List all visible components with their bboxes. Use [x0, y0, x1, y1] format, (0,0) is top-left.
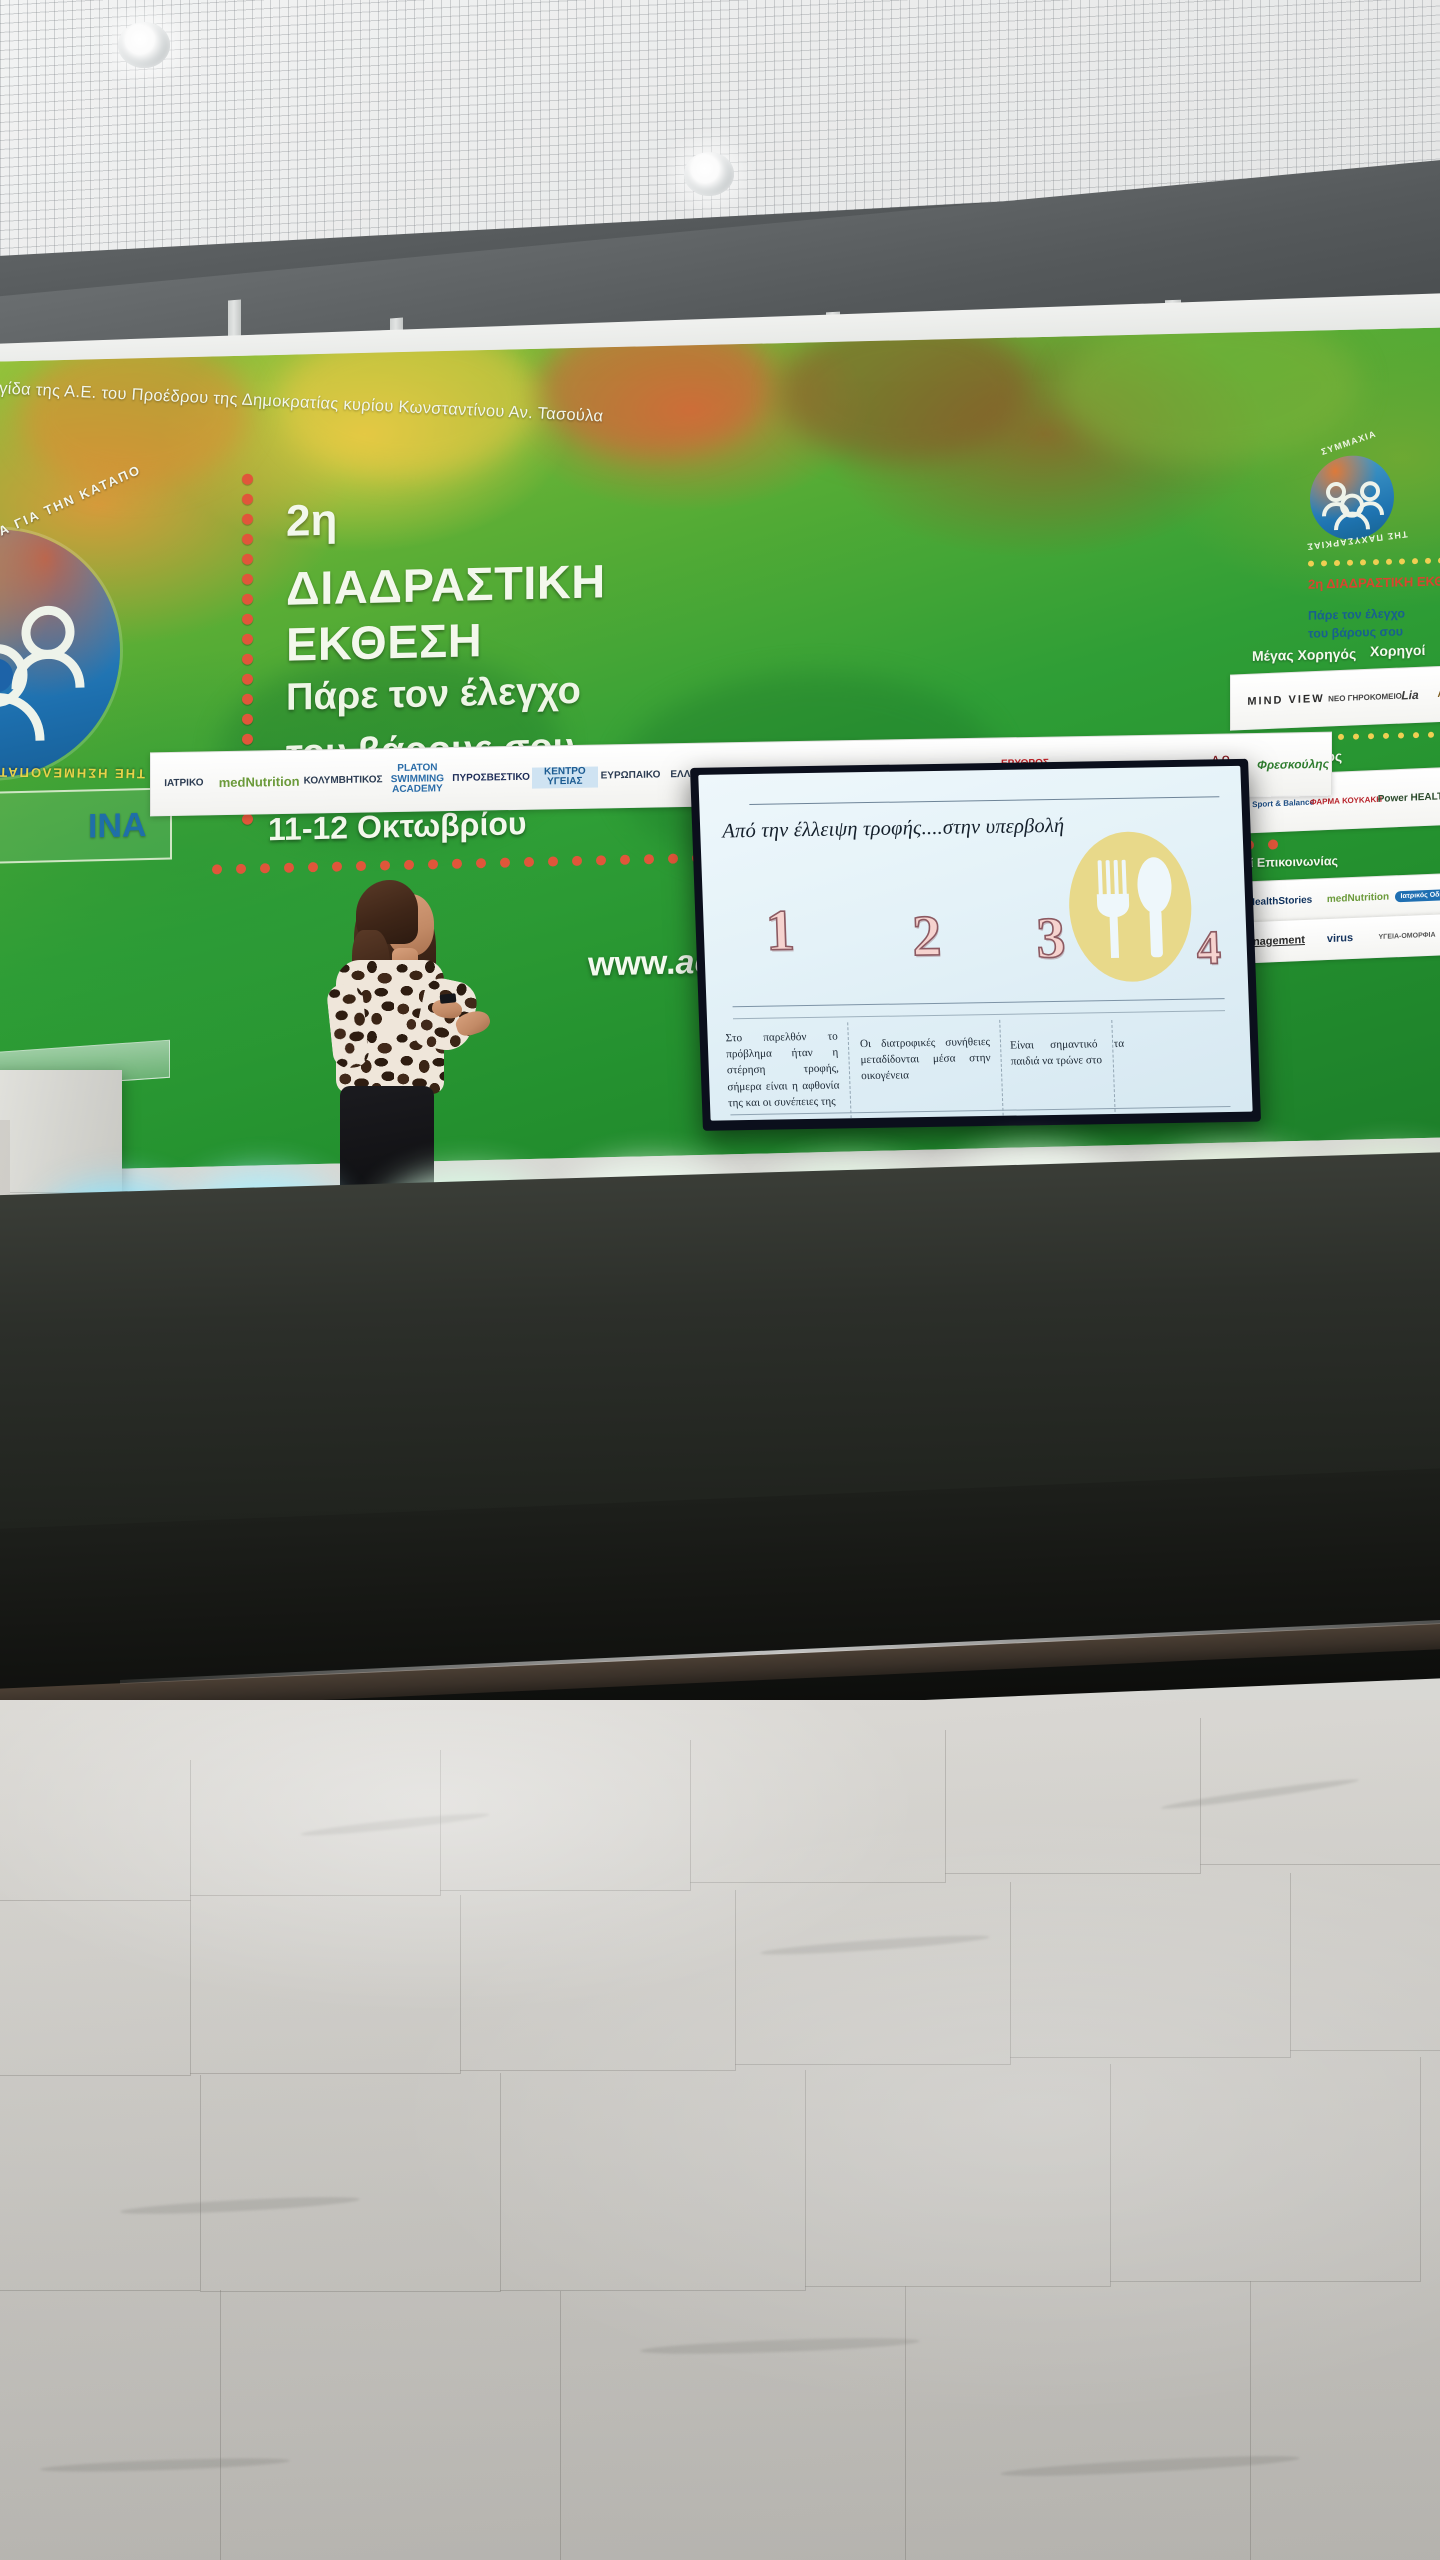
floor-tile — [945, 1718, 1201, 1874]
banner-title-line1: ΔΙΑΔΡΑΣΤΙΚΗ — [286, 553, 606, 616]
stand-sign-text: ΙΝΑ — [88, 806, 147, 846]
floor-tile — [0, 1760, 191, 1901]
partner-logo: PLATON SWIMMING ACADEMY — [385, 763, 451, 796]
floor-tile — [0, 2290, 221, 2560]
sponsor-logo-lia: Lia — [1389, 687, 1431, 703]
sponsor-logo-ab: ΑΒ — [1431, 688, 1440, 699]
ceiling-downlight-icon — [684, 152, 734, 196]
slide-number-3: 3 — [1035, 909, 1066, 967]
banner-edition: 2η — [286, 496, 337, 547]
floor-tile — [905, 2281, 1251, 2560]
slide-divider — [999, 1020, 1003, 1116]
slide-column-3: Είναι σημαντικό τα παιδιά να τρώνε στο — [1010, 1036, 1125, 1070]
banner-title-line2: ΕΚΘΕΣΗ — [286, 612, 482, 672]
floor-tile — [735, 1882, 1011, 2065]
partner-logo: ΠΥΡΟΣΒΕΣΤΙΚΟ — [450, 772, 532, 784]
floor-tile — [190, 1895, 461, 2074]
slide-column-1: Στο παρελθόν το πρόβλημα ήταν η στέρηση … — [725, 1029, 840, 1112]
slide-column-2: Οι διατροφικές συνήθειες μεταδίδονται μέ… — [860, 1034, 992, 1085]
partner-logo: ΚΟΛΥΜΒΗΤΙΚΟΣ — [302, 775, 385, 787]
floor-tile — [460, 1890, 736, 2071]
slide-top-rule — [749, 796, 1219, 805]
banner-subtitle-line1: Πάρε τον έλεγχο — [286, 670, 581, 720]
banner-right-sub2: του βάρους σου — [1308, 624, 1403, 640]
floor-tile — [560, 2286, 906, 2560]
floor-tile — [1290, 1864, 1440, 2051]
ceiling-downlight-icon — [118, 22, 170, 68]
alliance-people-small-icon — [1310, 455, 1394, 541]
slide-mid-rule-2 — [733, 1010, 1225, 1019]
sponsor-logo-powerhealth: Power HEALTH — [1379, 791, 1440, 805]
floor-tile — [690, 1730, 946, 1883]
floor-tile — [0, 1900, 191, 2076]
media-logo-ygeia-omorfia: ΥΓΕΙΑ-ΟΜΟΡΦΙΑ — [1367, 931, 1440, 941]
partner-logo: ΙΑΤΡΙΚΟ — [151, 778, 217, 790]
partner-logo: ΕΥΡΩΠΑΙΚΟ — [598, 770, 664, 782]
website-prefix: www. — [588, 944, 676, 984]
sponsor-logo-gerokomeio: ΝΕΟ ΓΗΡΟΚΟΜΕΙΟ — [1341, 692, 1389, 703]
media-logo-iatrikos-odigos: Ιατρικός Οδηγός — [1395, 888, 1440, 902]
slide-divider — [847, 1022, 851, 1118]
sponsor-heading-major: Μέγας Χορηγός — [1252, 646, 1356, 664]
sponsor-heading-sponsors: Χορηγοί — [1370, 642, 1425, 659]
sponsor-logo-mindview: MIND VIEW — [1231, 692, 1341, 709]
partner-logo: medNutrition — [217, 775, 302, 790]
alliance-logo-small-icon — [1310, 455, 1394, 541]
slide-mid-rule — [733, 998, 1225, 1007]
slide-number-1: 1 — [765, 901, 796, 959]
slide-title: Από την έλλειψη τροφής....στην υπερβολή — [722, 815, 1065, 844]
slide-canvas: Από την έλλειψη τροφής....στην υπερβολή … — [698, 766, 1252, 1121]
floor-tile — [1010, 1873, 1291, 2058]
sponsor-logo-koukaki: ΦΑΡΜΑ ΚΟΥΚΑΚΗ — [1313, 794, 1379, 806]
floor-tile — [0, 2075, 201, 2291]
sponsor-strip-major: MIND VIEW ΝΕΟ ΓΗΡΟΚΟΜΕΙΟ Lia ΑΒ — [1230, 665, 1440, 731]
marble-floor — [0, 1700, 1440, 2560]
floor-tile — [805, 2064, 1111, 2287]
presentation-display: Από την έλλειψη τροφής....στην υπερβολή … — [690, 759, 1261, 1131]
banner-right-title: 2η ΔΙΑΔΡΑΣΤΙΚΗ ΕΚΘΕΣΗ — [1308, 573, 1440, 592]
slide-number-4: 4 — [1196, 924, 1222, 972]
media-logo-virus: virus — [1313, 931, 1367, 945]
floor-tile — [1110, 2057, 1421, 2282]
media-logo-mednutrition: medNutrition — [1321, 891, 1395, 905]
sponsor-logo-sportbalance: Sport & Balance — [1253, 797, 1313, 808]
floor-tile — [200, 2073, 501, 2292]
floor-tile — [500, 2070, 806, 2291]
partner-logo: ΚΕΝΤΡΟ ΥΓΕΙΑΣ — [532, 766, 598, 788]
presentation-clicker — [440, 993, 457, 1004]
banner-right-sub1: Πάρε τον έλεγχο — [1308, 606, 1405, 622]
conference-photo-scene: ...αιγίδα της Α.Ε. του Προέδρου της Δημο… — [0, 0, 1440, 2560]
partner-logo: Φρεσκούλης — [1255, 757, 1331, 771]
floor-tile — [220, 2291, 561, 2560]
floor-tile — [1250, 2276, 1440, 2560]
slide-number-2: 2 — [911, 907, 942, 965]
